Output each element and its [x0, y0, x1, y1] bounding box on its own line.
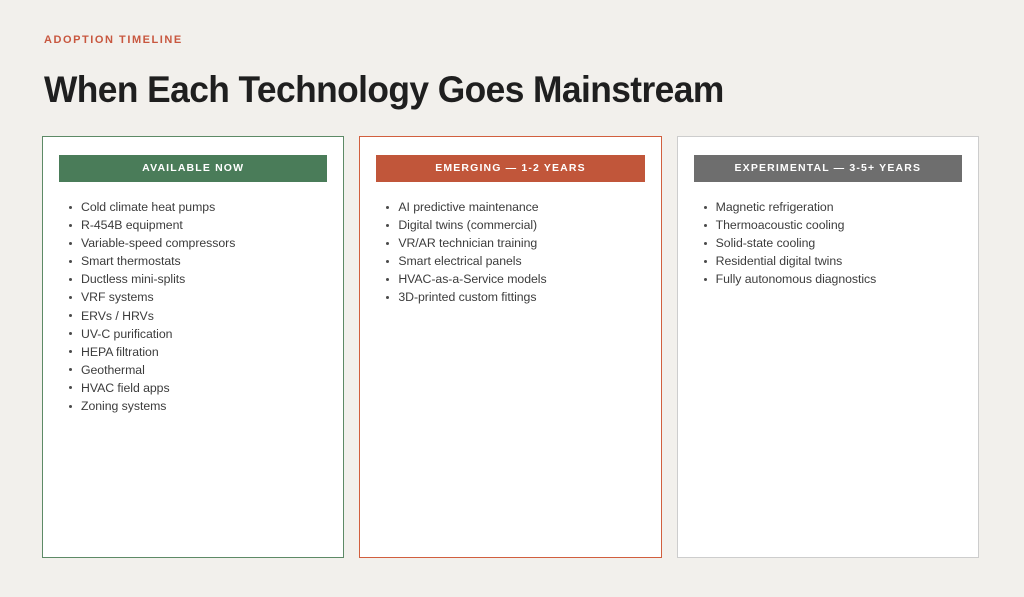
timeline-columns: AVAILABLE NOW Cold climate heat pumps R-… [42, 136, 979, 558]
bullet-icon [69, 206, 72, 209]
list-item: Variable-speed compressors [68, 234, 327, 252]
list-item-label: Ductless mini-splits [81, 272, 185, 286]
bullet-icon [69, 386, 72, 389]
list-item-label: HVAC-as-a-Service models [398, 272, 546, 286]
list-item: HEPA filtration [68, 343, 327, 361]
bullet-icon [69, 224, 72, 227]
bullet-icon [69, 260, 72, 263]
list-item: Zoning systems [68, 397, 327, 415]
list-item: Smart thermostats [68, 252, 327, 270]
bullet-icon [704, 206, 707, 209]
list-item: UV-C purification [68, 325, 327, 343]
timeline-card-experimental: EXPERIMENTAL — 3-5+ YEARS Magnetic refri… [677, 136, 979, 558]
timeline-card-emerging: EMERGING — 1-2 YEARS AI predictive maint… [359, 136, 661, 558]
list-item-label: Smart thermostats [81, 254, 181, 268]
list-item: Magnetic refrigeration [703, 198, 962, 216]
list-item-label: Geothermal [81, 363, 145, 377]
list-item-label: R-454B equipment [81, 218, 183, 232]
list-item-label: HVAC field apps [81, 381, 170, 395]
list-item: Smart electrical panels [385, 252, 644, 270]
list-item: R-454B equipment [68, 216, 327, 234]
bullet-icon [69, 368, 72, 371]
page-title: When Each Technology Goes Mainstream [44, 68, 942, 112]
bullet-icon [386, 296, 389, 299]
bullet-icon [704, 260, 707, 263]
bullet-icon [704, 278, 707, 281]
card-header-experimental: EXPERIMENTAL — 3-5+ YEARS [694, 155, 962, 182]
list-item-label: Thermoacoustic cooling [716, 218, 845, 232]
list-item-label: Variable-speed compressors [81, 236, 235, 250]
list-item: Fully autonomous diagnostics [703, 270, 962, 288]
list-item-label: Digital twins (commercial) [398, 218, 537, 232]
list-item-label: ERVs / HRVs [81, 309, 154, 323]
list-item-label: 3D-printed custom fittings [398, 290, 536, 304]
list-item: Digital twins (commercial) [385, 216, 644, 234]
list-item: AI predictive maintenance [385, 198, 644, 216]
list-item-label: UV-C purification [81, 327, 172, 341]
list-item-label: VR/AR technician training [398, 236, 537, 250]
list-item: Solid-state cooling [703, 234, 962, 252]
slide-root: ADOPTION TIMELINE When Each Technology G… [0, 0, 1024, 597]
bullet-icon [69, 242, 72, 245]
bullet-icon [69, 278, 72, 281]
bullet-icon [386, 278, 389, 281]
list-item-label: Residential digital twins [716, 254, 843, 268]
list-item-label: Magnetic refrigeration [716, 200, 834, 214]
list-item-label: Cold climate heat pumps [81, 200, 215, 214]
list-item-label: Solid-state cooling [716, 236, 816, 250]
list-item: Cold climate heat pumps [68, 198, 327, 216]
card-list-available-now: Cold climate heat pumps R-454B equipment… [59, 198, 327, 415]
list-item-label: AI predictive maintenance [398, 200, 538, 214]
list-item-label: Fully autonomous diagnostics [716, 272, 877, 286]
list-item: VRF systems [68, 288, 327, 306]
bullet-icon [69, 350, 72, 353]
list-item: VR/AR technician training [385, 234, 644, 252]
bullet-icon [704, 242, 707, 245]
list-item-label: Smart electrical panels [398, 254, 521, 268]
bullet-icon [386, 206, 389, 209]
bullet-icon [69, 405, 72, 408]
list-item-label: VRF systems [81, 290, 154, 304]
list-item: Residential digital twins [703, 252, 962, 270]
list-item: 3D-printed custom fittings [385, 288, 644, 306]
slide-header: ADOPTION TIMELINE When Each Technology G… [44, 33, 984, 112]
bullet-icon [69, 296, 72, 299]
bullet-icon [69, 314, 72, 317]
eyebrow-label: ADOPTION TIMELINE [44, 33, 984, 47]
list-item: ERVs / HRVs [68, 307, 327, 325]
bullet-icon [704, 224, 707, 227]
list-item: Geothermal [68, 361, 327, 379]
list-item-label: HEPA filtration [81, 345, 159, 359]
bullet-icon [386, 260, 389, 263]
card-header-available-now: AVAILABLE NOW [59, 155, 327, 182]
list-item: HVAC field apps [68, 379, 327, 397]
bullet-icon [69, 332, 72, 335]
card-header-emerging: EMERGING — 1-2 YEARS [376, 155, 644, 182]
list-item: Thermoacoustic cooling [703, 216, 962, 234]
list-item-label: Zoning systems [81, 399, 166, 413]
card-list-experimental: Magnetic refrigeration Thermoacoustic co… [694, 198, 962, 288]
card-list-emerging: AI predictive maintenance Digital twins … [376, 198, 644, 307]
timeline-card-available-now: AVAILABLE NOW Cold climate heat pumps R-… [42, 136, 344, 558]
list-item: Ductless mini-splits [68, 270, 327, 288]
bullet-icon [386, 242, 389, 245]
bullet-icon [386, 224, 389, 227]
list-item: HVAC-as-a-Service models [385, 270, 644, 288]
